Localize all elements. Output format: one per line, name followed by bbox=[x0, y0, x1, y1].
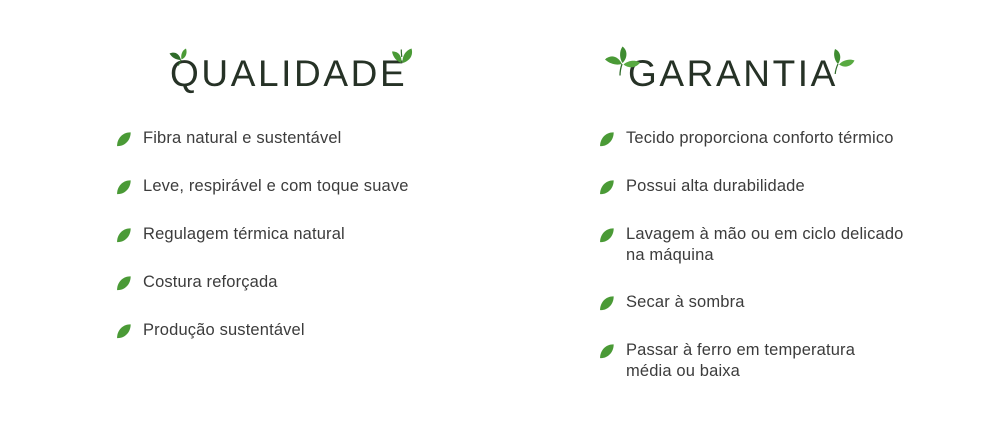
leaf-icon bbox=[113, 321, 134, 342]
leaf-icon bbox=[113, 177, 134, 198]
leaf-icon bbox=[113, 225, 134, 246]
list-item: Tecido proporciona conforto térmico bbox=[596, 128, 996, 150]
list-item: Lavagem à mão ou em ciclo delicado na má… bbox=[596, 224, 996, 266]
list-item-text: Fibra natural e sustentável bbox=[143, 128, 342, 149]
leaf-icon bbox=[113, 129, 134, 150]
list-qualidade: Fibra natural e sustentável Leve, respir… bbox=[113, 128, 473, 342]
heading-qualidade: QUALIDADE bbox=[170, 44, 407, 102]
leaf-icon bbox=[596, 225, 617, 246]
leaf-icon bbox=[596, 293, 617, 314]
heading-garantia: GARANTIA bbox=[628, 44, 838, 102]
leaf-icon bbox=[113, 273, 134, 294]
heading-title: GARANTIA bbox=[628, 55, 838, 92]
list-item-text: Leve, respirável e com toque suave bbox=[143, 176, 409, 197]
list-item-text: Regulagem térmica natural bbox=[143, 224, 345, 245]
benefits-panel: QUALIDADE Fibra natural e sustentável bbox=[0, 0, 1000, 445]
list-item: Fibra natural e sustentável bbox=[113, 128, 473, 150]
list-garantia: Tecido proporciona conforto térmico Poss… bbox=[596, 128, 996, 382]
list-item-text: Possui alta durabilidade bbox=[626, 176, 805, 197]
leaf-icon bbox=[596, 341, 617, 362]
list-item: Costura reforçada bbox=[113, 272, 473, 294]
list-item: Produção sustentável bbox=[113, 320, 473, 342]
heading-title: QUALIDADE bbox=[170, 55, 407, 92]
list-item-text: Passar à ferro em temperatura média ou b… bbox=[626, 340, 855, 382]
list-item-text: Lavagem à mão ou em ciclo delicado na má… bbox=[626, 224, 904, 266]
list-item-text: Secar à sombra bbox=[626, 292, 745, 313]
leaf-icon bbox=[596, 129, 617, 150]
list-item-text: Tecido proporciona conforto térmico bbox=[626, 128, 894, 149]
leaf-icon bbox=[596, 177, 617, 198]
list-item-text: Costura reforçada bbox=[143, 272, 278, 293]
list-item: Passar à ferro em temperatura média ou b… bbox=[596, 340, 996, 382]
column-garantia: GARANTIA Tecido proporciona conforto tér… bbox=[500, 0, 1000, 445]
list-item: Leve, respirável e com toque suave bbox=[113, 176, 473, 198]
list-item: Regulagem térmica natural bbox=[113, 224, 473, 246]
list-item: Possui alta durabilidade bbox=[596, 176, 996, 198]
list-item: Secar à sombra bbox=[596, 292, 996, 314]
column-qualidade: QUALIDADE Fibra natural e sustentável bbox=[0, 0, 500, 445]
list-item-text: Produção sustentável bbox=[143, 320, 305, 341]
